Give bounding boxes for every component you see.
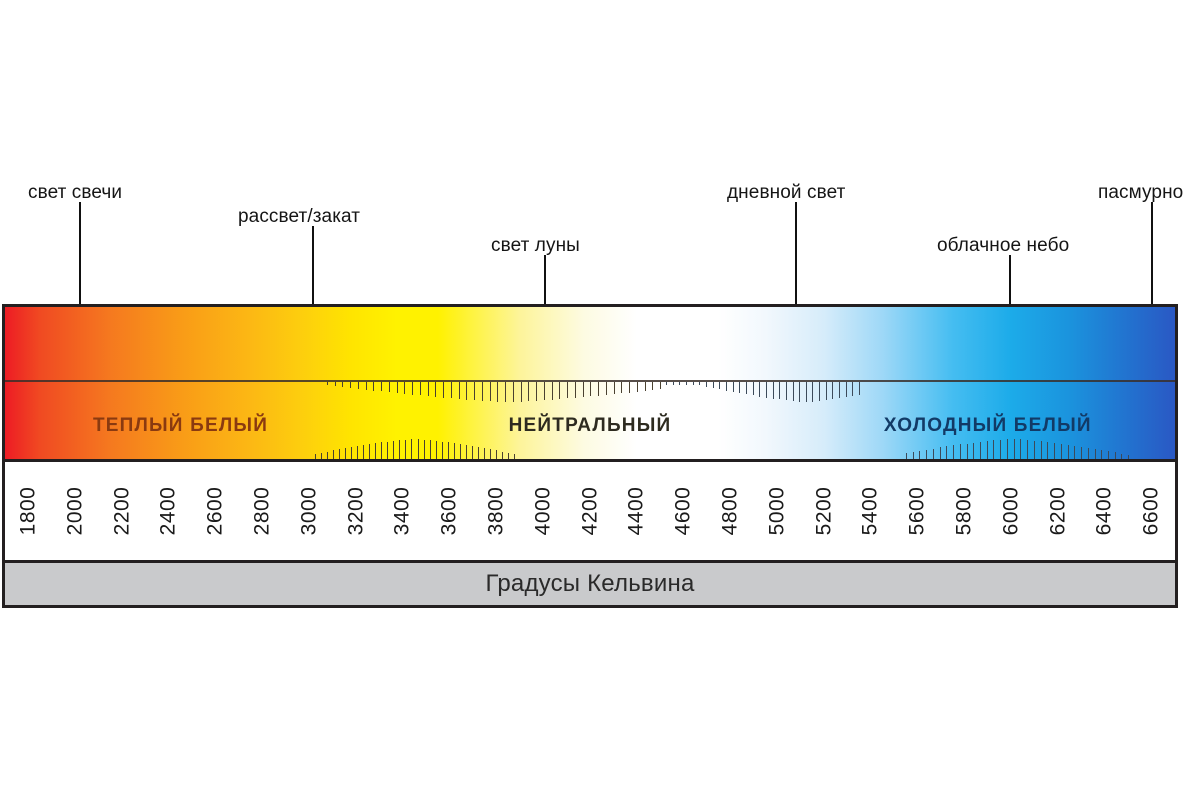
ruler-tick: [960, 444, 961, 459]
ruler-tick: [1061, 444, 1062, 459]
ruler-tick: [1014, 439, 1015, 459]
ruler-tick: [766, 382, 767, 398]
ruler-tick: [1047, 442, 1048, 459]
kelvin-tick-label: 6000: [988, 462, 1034, 560]
kelvin-tick-label: 2400: [146, 462, 192, 560]
ruler-tick: [327, 452, 328, 459]
ruler-tick: [1128, 455, 1129, 459]
ruler-tick: [598, 382, 599, 396]
ruler-tick: [987, 441, 988, 459]
ruler-tick: [946, 446, 947, 459]
kelvin-tick-label: 4600: [661, 462, 707, 560]
kelvin-axis-footer: Градусы Кельвина: [2, 560, 1178, 608]
ruler-tick: [699, 382, 700, 385]
kelvin-tick-value: 5200: [812, 487, 836, 536]
ruler-tick: [719, 382, 720, 389]
ruler-tick: [726, 382, 727, 391]
ruler-tick: [315, 454, 316, 459]
kelvin-tick-value: 3800: [484, 487, 508, 536]
kelvin-tick-value: 5600: [906, 487, 930, 536]
ruler-tick: [980, 442, 981, 459]
ruler-tick: [435, 382, 436, 397]
ruler-tick: [460, 444, 461, 459]
ruler-tick: [645, 382, 646, 391]
kelvin-tick-value: 2000: [63, 487, 87, 536]
ruler-tick: [913, 452, 914, 459]
ruler-tick: [369, 444, 370, 459]
kelvin-tick-value: 3600: [438, 487, 462, 536]
ruler-tick: [448, 442, 449, 459]
ruler-tick: [793, 382, 794, 401]
ruler-tick: [919, 451, 920, 459]
ruler-tick: [420, 382, 421, 395]
ruler-tick: [472, 446, 473, 459]
callout-label: облачное небо: [937, 235, 1069, 257]
ruler-ticks-lower-warm: [315, 437, 514, 459]
ruler-tick: [443, 382, 444, 398]
ruler-tick: [629, 382, 630, 393]
ruler-tick: [375, 443, 376, 459]
kelvin-tick-value: 4800: [718, 487, 742, 536]
kelvin-tick-value: 6200: [1046, 487, 1070, 536]
spectrum-bar: ТЕПЛЫЙ БЕЛЫЙ НЕЙТРАЛЬНЫЙ ХОЛОДНЫЙ БЕЛЫЙ: [2, 304, 1178, 462]
ruler-tick: [973, 443, 974, 459]
kelvin-tick-label: 3800: [473, 462, 519, 560]
ruler-tick: [953, 445, 954, 459]
kelvin-tick-value: 4000: [531, 487, 555, 536]
kelvin-tick-label: 1800: [5, 462, 51, 560]
kelvin-tick-label: 4400: [614, 462, 660, 560]
ruler-tick: [482, 382, 483, 401]
ruler-tick: [733, 382, 734, 392]
ruler-tick: [706, 382, 707, 387]
ruler-tick: [652, 382, 653, 390]
ruler-tick: [333, 450, 334, 459]
ruler-tick: [436, 441, 437, 459]
ruler-tick: [474, 382, 475, 400]
ruler-tick: [583, 382, 584, 397]
ruler-tick: [350, 382, 351, 388]
ruler-tick: [428, 382, 429, 396]
ruler-tick: [490, 382, 491, 401]
ruler-ticks-lower-cool: [906, 437, 1128, 459]
ruler-tick: [321, 453, 322, 459]
ruler-tick: [1108, 451, 1109, 459]
ruler-tick: [358, 382, 359, 389]
callout-label: дневной свет: [727, 182, 845, 204]
ruler-tick: [713, 382, 714, 388]
ruler-tick: [404, 382, 405, 394]
ruler-tick: [567, 382, 568, 398]
ruler-tick: [1054, 443, 1055, 459]
kelvin-tick-label: 6600: [1129, 462, 1175, 560]
ruler-tick: [451, 382, 452, 398]
ruler-tick: [1095, 449, 1096, 459]
ruler-tick: [614, 382, 615, 394]
ruler-tick: [1041, 441, 1042, 459]
kelvin-tick-label: 3400: [380, 462, 426, 560]
ruler-tick: [1121, 454, 1122, 459]
ruler-tick: [660, 382, 661, 389]
kelvin-tick-value: 3400: [391, 487, 415, 536]
kelvin-tick-label: 2800: [239, 462, 285, 560]
ruler-tick: [389, 382, 390, 392]
band-label-neutral: НЕЙТРАЛЬНЫЙ: [509, 415, 672, 437]
ruler-tick: [799, 382, 800, 402]
ruler-tick: [466, 382, 467, 400]
ruler-tick: [496, 450, 497, 459]
ruler-tick: [773, 382, 774, 399]
kelvin-tick-label: 5600: [895, 462, 941, 560]
ruler-tick: [1088, 448, 1089, 459]
ruler-tick: [779, 382, 780, 399]
ruler-tick: [621, 382, 622, 393]
ruler-tick: [1115, 452, 1116, 459]
kelvin-tick-value: 6000: [999, 487, 1023, 536]
kelvin-tick-value: 2600: [204, 487, 228, 536]
callout-label: свет свечи: [28, 182, 122, 204]
ruler-tick: [753, 382, 754, 395]
ruler-tick: [1074, 446, 1075, 459]
kelvin-tick-label: 5000: [754, 462, 800, 560]
ruler-tick: [412, 382, 413, 395]
ruler-tick: [345, 448, 346, 459]
ruler-ticks-upper-cool: [666, 382, 859, 404]
kelvin-tick-label: 3600: [427, 462, 473, 560]
ruler-tick: [505, 382, 506, 402]
kelvin-tick-value: 5400: [859, 487, 883, 536]
kelvin-tick-label: 3000: [286, 462, 332, 560]
ruler-tick: [906, 453, 907, 459]
ruler-tick: [514, 454, 515, 459]
ruler-tick: [666, 382, 667, 385]
kelvin-tick-value: 1800: [16, 487, 40, 536]
ruler-tick: [521, 382, 522, 402]
ruler-tick: [679, 382, 680, 385]
ruler-tick: [1027, 440, 1028, 459]
ruler-tick: [1020, 439, 1021, 459]
ruler-tick: [846, 382, 847, 397]
ruler-tick: [508, 453, 509, 459]
kelvin-tick-value: 3200: [344, 487, 368, 536]
kelvin-tick-label: 5400: [848, 462, 894, 560]
ruler-tick: [454, 443, 455, 459]
ruler-tick: [852, 382, 853, 396]
ruler-tick: [327, 382, 328, 385]
kelvin-tick-label: 3200: [333, 462, 379, 560]
ruler-tick: [484, 448, 485, 459]
ruler-tick: [759, 382, 760, 397]
kelvin-tick-label: 5200: [801, 462, 847, 560]
ruler-tick: [993, 440, 994, 459]
ruler-tick: [405, 440, 406, 459]
ruler-tick: [393, 441, 394, 459]
ruler-tick: [397, 382, 398, 393]
ruler-tick: [339, 449, 340, 459]
ruler-tick: [497, 382, 498, 402]
ruler-tick: [1101, 450, 1102, 459]
ruler-tick: [381, 442, 382, 459]
kelvin-tick-value: 2400: [157, 487, 181, 536]
kelvin-tick-label: 4800: [707, 462, 753, 560]
ruler-tick: [381, 382, 382, 391]
color-temperature-chart: свет свечирассвет/закатсвет луныдневной …: [0, 0, 1200, 800]
ruler-tick: [513, 382, 514, 402]
ruler-tick: [575, 382, 576, 398]
ruler-tick: [411, 439, 412, 459]
ruler-tick: [544, 382, 545, 400]
ruler-tick: [466, 445, 467, 459]
ruler-tick: [933, 449, 934, 459]
callout-label: свет луны: [491, 235, 580, 257]
kelvin-tick-label: 2600: [193, 462, 239, 560]
kelvin-scale: 1800200022002400260028003000320034003600…: [2, 462, 1178, 560]
ruler-tick: [502, 452, 503, 459]
ruler-tick: [806, 382, 807, 402]
ruler-tick: [673, 382, 674, 385]
ruler-tick: [812, 382, 813, 402]
kelvin-tick-label: 6400: [1082, 462, 1128, 560]
ruler-tick: [926, 450, 927, 459]
ruler-tick: [552, 382, 553, 400]
ruler-tick: [637, 382, 638, 392]
kelvin-tick-value: 4600: [672, 487, 696, 536]
ruler-tick: [819, 382, 820, 401]
ruler-tick: [1000, 440, 1001, 459]
ruler-tick: [1068, 445, 1069, 459]
kelvin-tick-value: 2200: [110, 487, 134, 536]
kelvin-tick-value: 4200: [578, 487, 602, 536]
kelvin-tick-label: 6200: [1035, 462, 1081, 560]
ruler-tick: [967, 444, 968, 459]
ruler-tick: [351, 447, 352, 459]
ruler-tick: [686, 382, 687, 385]
kelvin-tick-value: 4400: [625, 487, 649, 536]
ruler-tick: [490, 449, 491, 459]
band-label-warm-white: ТЕПЛЫЙ БЕЛЫЙ: [93, 415, 268, 437]
ruler-tick: [590, 382, 591, 396]
ruler-tick: [387, 442, 388, 459]
kelvin-axis-title: Градусы Кельвина: [486, 570, 695, 598]
ruler-tick: [859, 382, 860, 395]
ruler-tick: [1034, 441, 1035, 459]
ruler-tick: [424, 440, 425, 459]
kelvin-tick-value: 6600: [1140, 487, 1164, 536]
ruler-tick: [739, 382, 740, 393]
band-label-cool-white: ХОЛОДНЫЙ БЕЛЫЙ: [884, 415, 1092, 437]
ruler-tick: [606, 382, 607, 395]
ruler-tick: [1081, 447, 1082, 459]
ruler-tick: [536, 382, 537, 401]
kelvin-tick-label: 2000: [52, 462, 98, 560]
ruler-tick: [839, 382, 840, 398]
ruler-tick: [363, 445, 364, 459]
ruler-ticks-upper-warm: [327, 382, 660, 404]
callout-label: рассвет/закат: [238, 206, 360, 228]
kelvin-tick-value: 5800: [952, 487, 976, 536]
ruler-tick: [478, 447, 479, 459]
ruler-tick: [418, 439, 419, 459]
ruler-tick: [335, 382, 336, 386]
ruler-tick: [366, 382, 367, 390]
ruler-tick: [832, 382, 833, 399]
ruler-tick: [786, 382, 787, 400]
ruler-tick: [342, 382, 343, 387]
ruler-tick: [693, 382, 694, 385]
ruler-tick: [528, 382, 529, 401]
kelvin-tick-value: 3000: [297, 487, 321, 536]
kelvin-tick-label: 5800: [941, 462, 987, 560]
kelvin-tick-value: 2800: [250, 487, 274, 536]
ruler-tick: [430, 440, 431, 459]
ruler-tick: [559, 382, 560, 399]
ruler-tick: [1007, 439, 1008, 459]
ruler-tick: [373, 382, 374, 391]
ruler-tick: [746, 382, 747, 394]
ruler-tick: [826, 382, 827, 400]
kelvin-tick-value: 6400: [1093, 487, 1117, 536]
kelvin-tick-label: 2200: [99, 462, 145, 560]
kelvin-tick-label: 4000: [520, 462, 566, 560]
ruler-tick: [357, 446, 358, 459]
ruler-tick: [399, 440, 400, 459]
ruler-tick: [442, 442, 443, 459]
ruler-tick: [459, 382, 460, 399]
ruler-tick: [940, 447, 941, 459]
callout-label: пасмурно: [1098, 182, 1183, 204]
kelvin-tick-value: 5000: [765, 487, 789, 536]
kelvin-tick-label: 4200: [567, 462, 613, 560]
